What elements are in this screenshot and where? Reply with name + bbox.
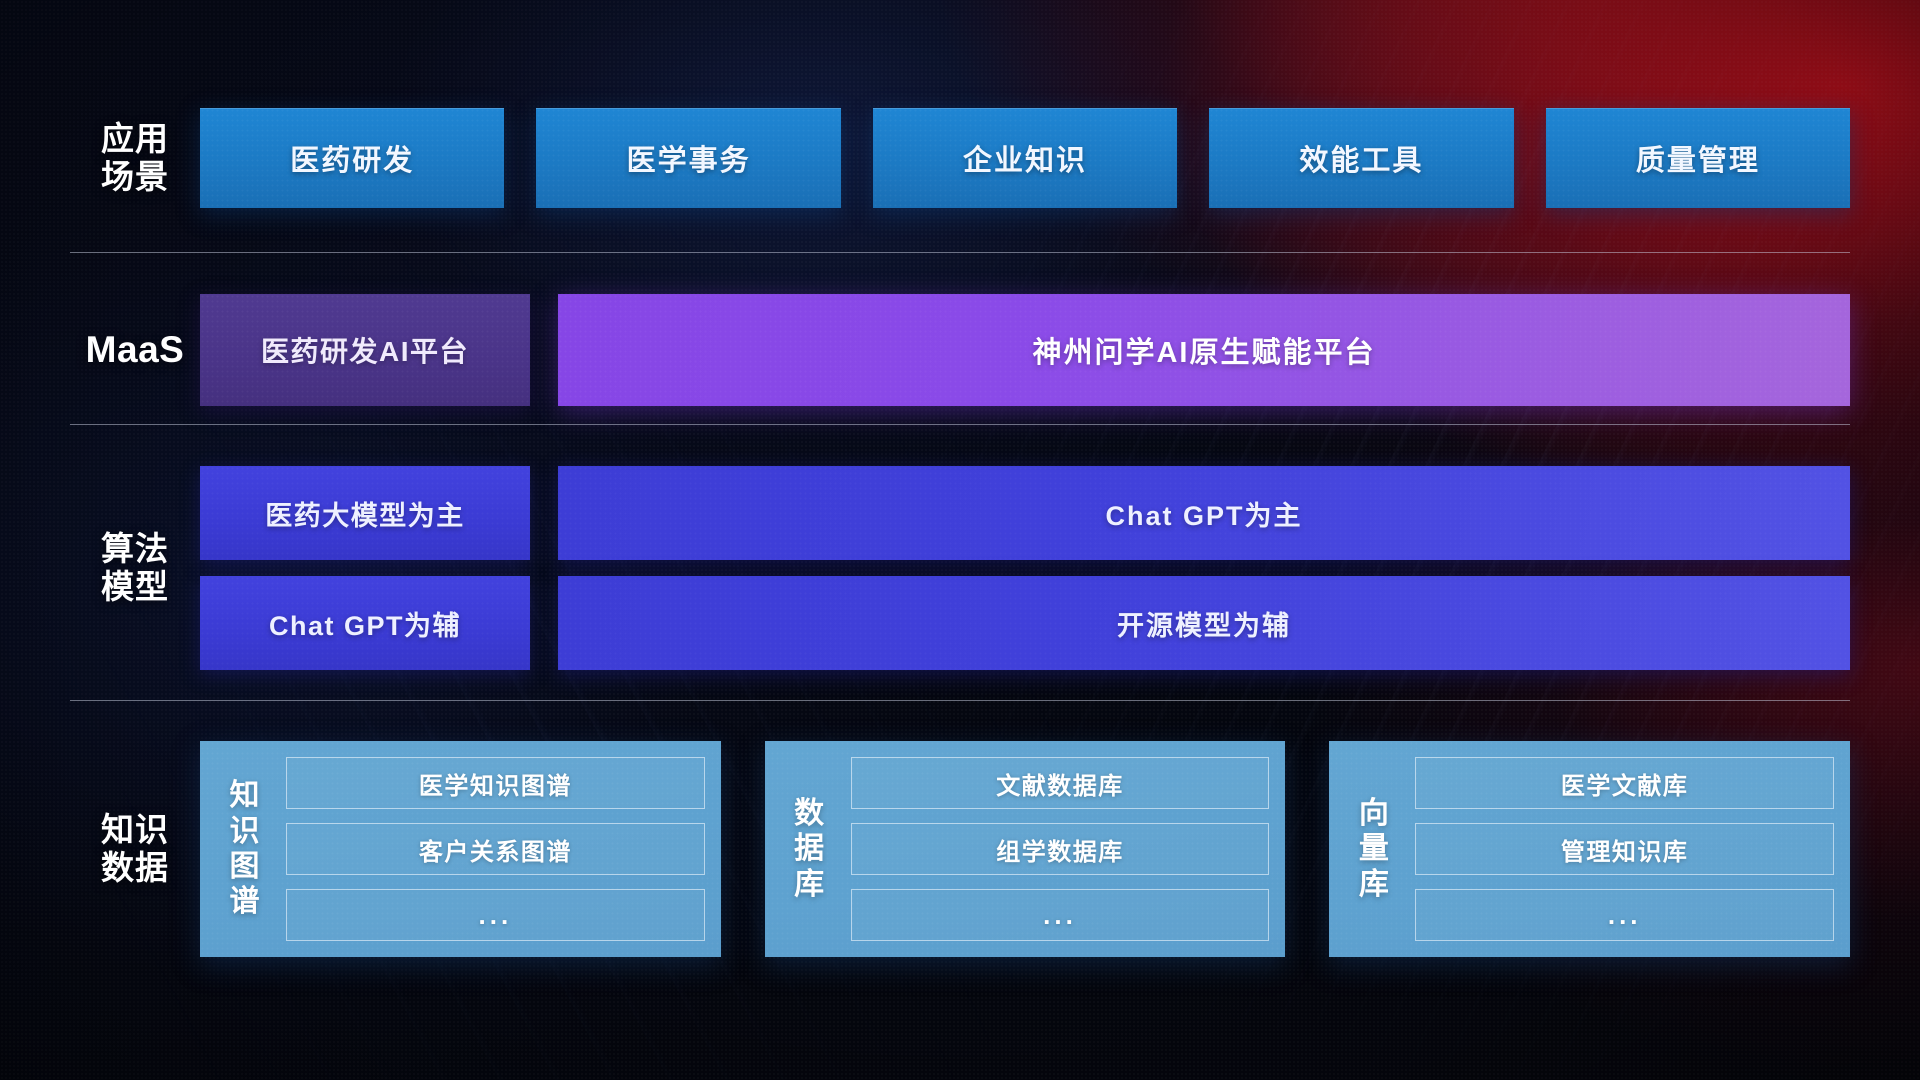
knowledge-panel-items: 文献数据库 组学数据库 ... xyxy=(851,757,1270,941)
divider-algo-knowledge xyxy=(70,700,1850,701)
maas-boxes: 医药研发AI平台 神州问学AI原生赋能平台 xyxy=(200,294,1850,406)
knowledge-panel-title: 向量库 xyxy=(1351,796,1397,902)
maas-box-shenzhou-wenxue-platform[interactable]: 神州问学AI原生赋能平台 xyxy=(558,294,1850,406)
knowledge-panel-items: 医学知识图谱 客户关系图谱 ... xyxy=(286,757,705,941)
maas-box-pharma-ai-platform[interactable]: 医药研发AI平台 xyxy=(200,294,530,406)
knowledge-item-label: ... xyxy=(1608,900,1642,931)
app-box-label: 质量管理 xyxy=(1636,137,1760,179)
knowledge-item-label: 组学数据库 xyxy=(996,832,1124,867)
knowledge-panel-knowledge-graph[interactable]: 知识图谱 医学知识图谱 客户关系图谱 ... xyxy=(200,741,721,957)
knowledge-item-label: 管理知识库 xyxy=(1561,832,1689,867)
algorithm-row-inner: 算法模型 医药大模型为主 Chat GPT为主 Chat GPT为辅 xyxy=(70,466,1850,670)
app-box-label: 医药研发 xyxy=(290,137,414,179)
maas-box-label: 医药研发AI平台 xyxy=(261,330,469,370)
knowledge-item-more[interactable]: ... xyxy=(1415,889,1834,941)
divider-maas-algo xyxy=(70,424,1850,425)
row-maas: MaaS 医药研发AI平台 神州问学AI原生赋能平台 xyxy=(70,292,1850,408)
algo-box-chatgpt-secondary[interactable]: Chat GPT为辅 xyxy=(200,576,530,670)
algo-box-chatgpt-primary[interactable]: Chat GPT为主 xyxy=(558,466,1850,560)
knowledge-item-label: 文献数据库 xyxy=(996,766,1124,801)
app-box-efficiency-tools[interactable]: 效能工具 xyxy=(1209,108,1513,208)
knowledge-panel-title: 数据库 xyxy=(787,796,833,902)
algo-box-label: 开源模型为辅 xyxy=(1117,604,1291,643)
divider-apps-maas xyxy=(70,252,1850,253)
algo-box-label: Chat GPT为辅 xyxy=(269,604,461,643)
knowledge-item-omics-database[interactable]: 组学数据库 xyxy=(851,823,1270,875)
app-box-quality-management[interactable]: 质量管理 xyxy=(1546,108,1850,208)
application-scenario-boxes: 医药研发 医学事务 企业知识 效能工具 质量管理 xyxy=(200,108,1850,208)
knowledge-item-label: 医学文献库 xyxy=(1561,766,1689,801)
app-box-enterprise-knowledge[interactable]: 企业知识 xyxy=(873,108,1177,208)
knowledge-item-label: 医学知识图谱 xyxy=(419,766,572,801)
algo-box-label: 医药大模型为主 xyxy=(265,494,465,533)
row-label-algorithm-model: 算法模型 xyxy=(70,530,200,607)
app-box-medical-affairs[interactable]: 医学事务 xyxy=(536,108,840,208)
knowledge-panel-items: 医学文献库 管理知识库 ... xyxy=(1415,757,1834,941)
row-label-application-scenarios: 应用场景 xyxy=(70,120,200,197)
knowledge-item-more[interactable]: ... xyxy=(851,889,1270,941)
row-application-scenarios: 应用场景 医药研发 医学事务 企业知识 效能工具 质量管理 xyxy=(70,100,1850,216)
knowledge-panel-database[interactable]: 数据库 文献数据库 组学数据库 ... xyxy=(765,741,1286,957)
algorithm-line-primary: 医药大模型为主 Chat GPT为主 xyxy=(200,466,1850,560)
knowledge-item-medical-literature-store[interactable]: 医学文献库 xyxy=(1415,757,1834,809)
knowledge-item-customer-relation-graph[interactable]: 客户关系图谱 xyxy=(286,823,705,875)
knowledge-item-label: ... xyxy=(1043,900,1077,931)
maas-box-label: 神州问学AI原生赋能平台 xyxy=(1032,329,1375,371)
knowledge-item-medical-knowledge-graph[interactable]: 医学知识图谱 xyxy=(286,757,705,809)
app-box-label: 效能工具 xyxy=(1299,137,1423,179)
app-box-label: 医学事务 xyxy=(627,137,751,179)
knowledge-item-literature-database[interactable]: 文献数据库 xyxy=(851,757,1270,809)
knowledge-item-label: 客户关系图谱 xyxy=(419,832,572,867)
slide-canvas: 应用场景 医药研发 医学事务 企业知识 效能工具 质量管理 xyxy=(0,0,1920,1080)
algorithm-model-boxes: 医药大模型为主 Chat GPT为主 Chat GPT为辅 开源模型为辅 xyxy=(200,466,1850,670)
knowledge-item-label: ... xyxy=(479,900,513,931)
knowledge-data-panels: 知识图谱 医学知识图谱 客户关系图谱 ... 数据库 xyxy=(200,741,1850,957)
app-box-medical-rd[interactable]: 医药研发 xyxy=(200,108,504,208)
knowledge-panel-title: 知识图谱 xyxy=(222,778,268,920)
app-box-label: 企业知识 xyxy=(963,137,1087,179)
row-label-maas: MaaS xyxy=(70,329,200,372)
row-knowledge-data: 知识数据 知识图谱 医学知识图谱 客户关系图谱 ... xyxy=(70,726,1850,972)
knowledge-item-management-knowledge-store[interactable]: 管理知识库 xyxy=(1415,823,1834,875)
row-algorithm-model: 算法模型 医药大模型为主 Chat GPT为主 Chat GPT为辅 xyxy=(70,466,1850,698)
architecture-diagram: 应用场景 医药研发 医学事务 企业知识 效能工具 质量管理 xyxy=(0,0,1920,1080)
algo-box-label: Chat GPT为主 xyxy=(1105,494,1302,533)
algorithm-line-secondary: Chat GPT为辅 开源模型为辅 xyxy=(200,576,1850,670)
knowledge-panel-vector-store[interactable]: 向量库 医学文献库 管理知识库 ... xyxy=(1329,741,1850,957)
row-label-knowledge-data: 知识数据 xyxy=(70,811,200,888)
algo-box-pharma-large-model-primary[interactable]: 医药大模型为主 xyxy=(200,466,530,560)
algo-box-opensource-model-secondary[interactable]: 开源模型为辅 xyxy=(558,576,1850,670)
knowledge-item-more[interactable]: ... xyxy=(286,889,705,941)
